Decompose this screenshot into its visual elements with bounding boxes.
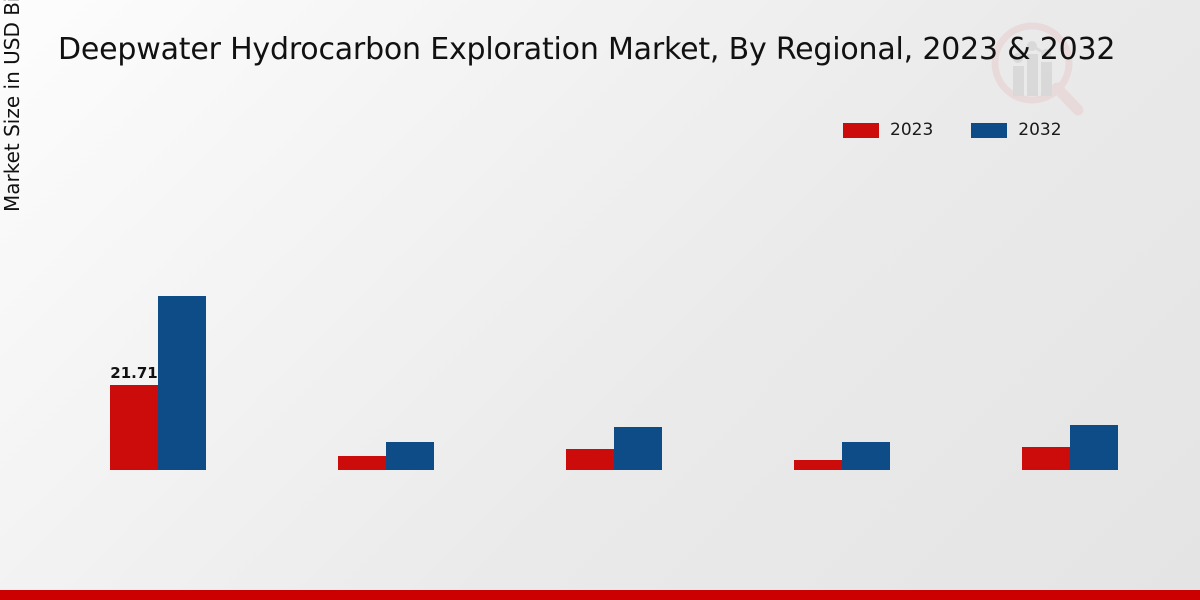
- bar-2032-europe[interactable]: [386, 442, 434, 470]
- bar-2032-south-america[interactable]: [614, 427, 662, 470]
- bar-group-north-america: 21.71: [110, 140, 206, 470]
- chart-title: Deepwater Hydrocarbon Exploration Market…: [58, 32, 1115, 67]
- plot-area: 21.71 NORTH AMERICA EUROPE: [40, 150, 1190, 470]
- footer-accent-bar: [0, 590, 1200, 600]
- legend-label-2023: 2023: [890, 120, 933, 140]
- legend-item-2032[interactable]: 2032: [971, 120, 1061, 140]
- bar-value-label: 21.71: [110, 364, 157, 382]
- chart-canvas: Deepwater Hydrocarbon Exploration Market…: [0, 0, 1200, 600]
- bar-2023-asia-pacific[interactable]: [794, 460, 842, 470]
- bar-2032-asia-pacific[interactable]: [842, 442, 890, 470]
- legend-swatch-icon: [843, 123, 879, 138]
- legend-item-2023[interactable]: 2023: [843, 120, 933, 140]
- legend-label-2032: 2032: [1018, 120, 1061, 140]
- bar-group-asia-pacific: [794, 140, 890, 470]
- bar-group-middle-east-and-africa: [1022, 140, 1118, 470]
- bar-2023-north-america[interactable]: 21.71: [110, 385, 158, 470]
- bar-group-south-america: [566, 140, 662, 470]
- bar-group-europe: [338, 140, 434, 470]
- legend-swatch-icon: [971, 123, 1007, 138]
- bar-2032-north-america[interactable]: [158, 296, 206, 470]
- bar-2023-europe[interactable]: [338, 456, 386, 470]
- bar-2023-middle-east-and-africa[interactable]: [1022, 447, 1070, 470]
- bar-2032-middle-east-and-africa[interactable]: [1070, 425, 1118, 470]
- y-axis-title: Market Size in USD Billion: [0, 0, 36, 214]
- chart-legend: 2023 2032: [843, 120, 1062, 140]
- bar-2023-south-america[interactable]: [566, 449, 614, 470]
- y-axis-title-text: Market Size in USD Billion: [0, 0, 24, 214]
